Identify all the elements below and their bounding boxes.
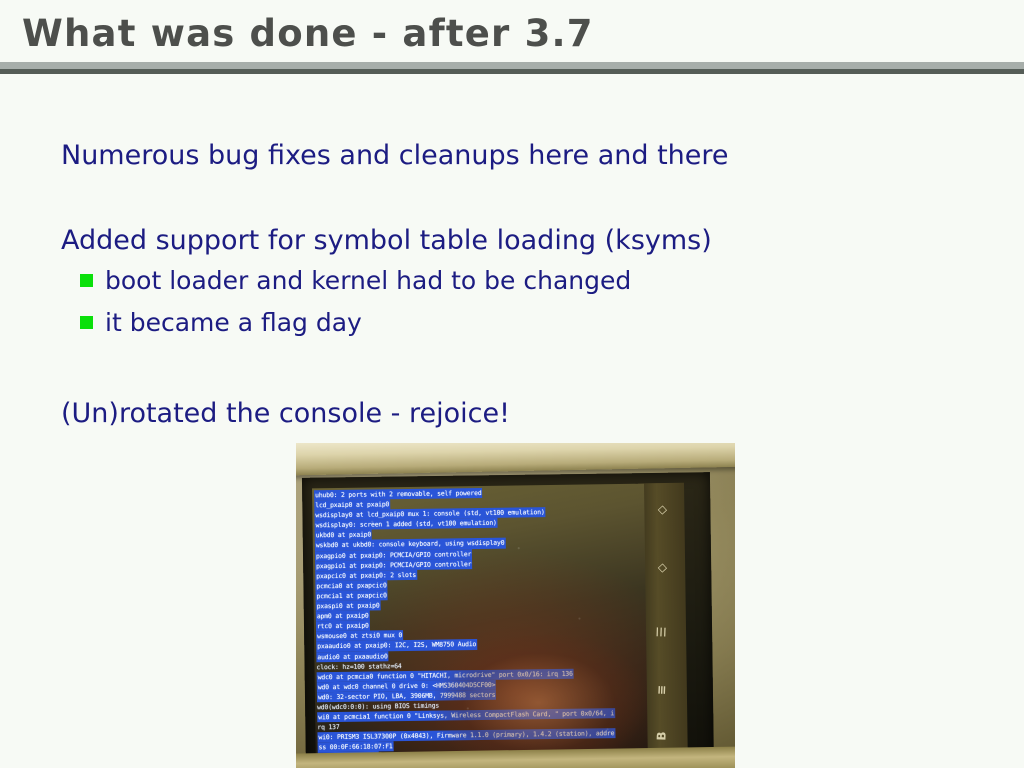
pda-console-photo: uhub0: 2 ports with 2 removable, self po…: [296, 443, 735, 768]
side-strip-mark-icon: ≡: [654, 682, 669, 697]
title-rule-dark: [0, 69, 1024, 74]
side-strip-mark-icon: ☰: [654, 624, 669, 639]
body-line-1: Numerous bug fixes and cleanups here and…: [61, 140, 729, 171]
list-item: it became a flag day: [80, 308, 362, 337]
lcd-screen: uhub0: 2 ports with 2 removable, self po…: [312, 484, 648, 768]
console-line-text: clock: hz=100 stathz=64: [316, 662, 401, 671]
square-bullet-icon: [80, 316, 93, 329]
body-line-3: (Un)rotated the console - rejoice!: [61, 398, 510, 429]
side-strip-mark-icon: B: [654, 728, 669, 743]
console-line-text: ss 00:0F:66:18:07:F1: [318, 742, 394, 753]
slide: What was done - after 3.7 Numerous bug f…: [0, 0, 1024, 768]
side-strip-mark-icon: ◇: [654, 502, 669, 517]
console-line-text: audio0 at pxaaudio0: [316, 651, 388, 662]
body-line-2: Added support for symbol table loading (…: [61, 225, 712, 256]
title-rule-light: [0, 62, 1024, 69]
list-item-label: it became a flag day: [105, 308, 362, 337]
list-item-label: boot loader and kernel had to be changed: [105, 266, 631, 295]
side-strip-mark-icon: ◇: [654, 560, 669, 575]
console-line-text: rq 137: [317, 723, 339, 731]
console-line-text: pxaspi0 at pxaip0: [316, 600, 381, 611]
console-line-text: pxapcic0 at pxaip0: 2 slots: [315, 570, 417, 582]
console-line-text: wd0(wdc0:0:0): using BIOS timings: [317, 702, 439, 712]
square-bullet-icon: [80, 274, 93, 287]
list-item: boot loader and kernel had to be changed: [80, 266, 631, 295]
console-log: uhub0: 2 ports with 2 removable, self po…: [314, 486, 648, 768]
page-title: What was done - after 3.7: [22, 12, 594, 55]
